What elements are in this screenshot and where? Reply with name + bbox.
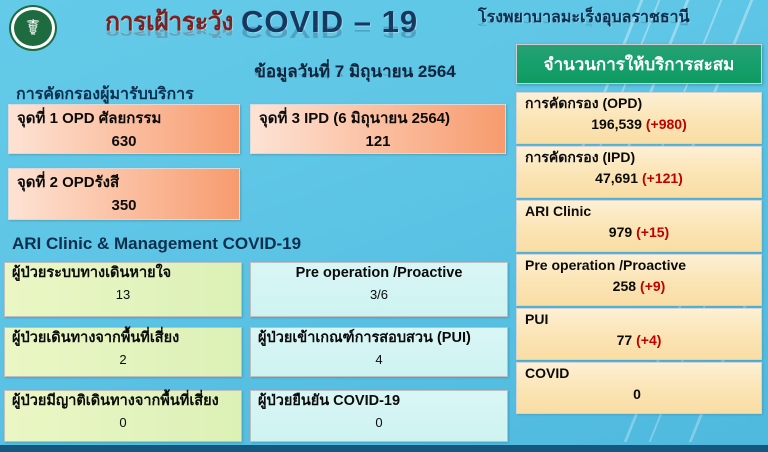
- ari-cell-relative-travel-risk-area-value: 0: [12, 415, 234, 430]
- cumulative-row-opd-value-group: 196,539(+980): [525, 116, 753, 132]
- ari-cell-pre-operation-proactive-label: Pre operation /Proactive: [258, 266, 500, 282]
- data-date-label: ข้อมูลวันที่ 7 มิถุนายน 2564: [205, 58, 505, 85]
- cumulative-row-covid: COVID 0: [516, 362, 762, 414]
- screening-point-3-card: จุดที่ 3 IPD (6 มิถุนายน 2564) 121: [250, 104, 506, 154]
- ari-cell-respiratory-patients-label: ผู้ป่วยระบบทางเดินหายใจ: [12, 266, 234, 282]
- screening-point-1-label: จุดที่ 1 OPD ศัลยกรรม: [17, 110, 231, 127]
- cumulative-panel-title-text: จำนวนการให้บริการสะสม: [544, 51, 735, 78]
- cumulative-row-pre-operation-proactive-value-group: 258(+9): [525, 278, 753, 294]
- slide-canvas: ☤ การเฝ้าระวัง COVID – 19 การเฝ้าระวัง C…: [0, 0, 768, 452]
- ministry-of-public-health-seal-icon: ☤: [6, 2, 62, 54]
- cumulative-row-pui: PUI 77(+4): [516, 308, 762, 360]
- screening-point-2-card: จุดที่ 2 OPDรังสี 350: [8, 168, 240, 220]
- ari-cell-relative-travel-risk-area: ผู้ป่วยมีญาติเดินทางจากพื้นที่เสี่ยง 0: [4, 390, 242, 442]
- ari-cell-pui-label: ผู้ป่วยเข้าเกณฑ์การสอบสวน (PUI): [258, 331, 500, 347]
- cumulative-row-pre-operation-proactive-value: 258: [613, 278, 636, 294]
- screening-point-3-value: 121: [259, 133, 497, 150]
- cumulative-panel-title: จำนวนการให้บริการสะสม: [516, 44, 762, 84]
- cumulative-row-ari-clinic-delta: (+15): [636, 224, 669, 240]
- bottom-accent-bar: [0, 445, 768, 452]
- ari-cell-travel-risk-area-label: ผู้ป่วยเดินทางจากพื้นที่เสี่ยง: [12, 331, 234, 347]
- cumulative-row-ipd-value-group: 47,691(+121): [525, 170, 753, 186]
- cumulative-row-pui-delta: (+4): [636, 332, 661, 348]
- cumulative-row-ipd-delta: (+121): [642, 170, 683, 186]
- cumulative-row-opd: การคัดกรอง (OPD) 196,539(+980): [516, 92, 762, 144]
- cumulative-row-ipd-value: 47,691: [595, 170, 638, 186]
- ari-cell-pre-operation-proactive: Pre operation /Proactive 3/6: [250, 262, 508, 317]
- cumulative-row-pui-label: PUI: [525, 312, 753, 327]
- cumulative-row-pui-value-group: 77(+4): [525, 332, 753, 348]
- caduceus-icon: ☤: [14, 10, 52, 46]
- ari-cell-confirmed-covid: ผู้ป่วยยืนยัน COVID-19 0: [250, 390, 508, 442]
- ari-cell-pre-operation-proactive-value: 3/6: [258, 287, 500, 302]
- cumulative-row-pui-value: 77: [617, 332, 633, 348]
- cumulative-row-ari-clinic-value: 979: [609, 224, 632, 240]
- cumulative-row-ari-clinic: ARI Clinic 979(+15): [516, 200, 762, 252]
- ari-cell-confirmed-covid-value: 0: [258, 415, 500, 430]
- ari-cell-pui: ผู้ป่วยเข้าเกณฑ์การสอบสวน (PUI) 4: [250, 327, 508, 377]
- cumulative-row-ipd: การคัดกรอง (IPD) 47,691(+121): [516, 146, 762, 198]
- cumulative-row-ari-clinic-label: ARI Clinic: [525, 204, 753, 219]
- cumulative-row-ari-clinic-value-group: 979(+15): [525, 224, 753, 240]
- screening-point-3-label: จุดที่ 3 IPD (6 มิถุนายน 2564): [259, 110, 497, 127]
- screening-point-1-value: 630: [17, 133, 231, 150]
- page-title-english: COVID – 19: [241, 4, 418, 40]
- ari-cell-respiratory-patients: ผู้ป่วยระบบทางเดินหายใจ 13: [4, 262, 242, 317]
- cumulative-row-opd-label: การคัดกรอง (OPD): [525, 96, 753, 111]
- cumulative-row-pre-operation-proactive: Pre operation /Proactive 258(+9): [516, 254, 762, 306]
- ari-cell-confirmed-covid-label: ผู้ป่วยยืนยัน COVID-19: [258, 394, 500, 410]
- cumulative-row-covid-label: COVID: [525, 366, 753, 381]
- ari-cell-pui-value: 4: [258, 352, 500, 367]
- page-title: การเฝ้าระวัง COVID – 19: [105, 2, 418, 42]
- ari-cell-travel-risk-area: ผู้ป่วยเดินทางจากพื้นที่เสี่ยง 2: [4, 327, 242, 377]
- cumulative-row-opd-delta: (+980): [646, 116, 687, 132]
- screening-point-2-label: จุดที่ 2 OPDรังสี: [17, 174, 231, 191]
- cumulative-row-pre-operation-proactive-label: Pre operation /Proactive: [525, 258, 753, 273]
- cumulative-row-ipd-label: การคัดกรอง (IPD): [525, 150, 753, 165]
- cumulative-row-covid-value: 0: [633, 386, 641, 402]
- ari-cell-respiratory-patients-value: 13: [12, 287, 234, 302]
- page-title-thai: การเฝ้าระวัง: [105, 2, 233, 42]
- screening-point-1-card: จุดที่ 1 OPD ศัลยกรรม 630: [8, 104, 240, 154]
- ari-cell-travel-risk-area-value: 2: [12, 352, 234, 367]
- cumulative-row-opd-value: 196,539: [591, 116, 642, 132]
- hospital-name: โรงพยาบาลมะเร็งอุบลราชธานี: [478, 5, 690, 30]
- cumulative-row-pre-operation-proactive-delta: (+9): [640, 278, 665, 294]
- screening-point-2-value: 350: [17, 197, 231, 214]
- cumulative-row-covid-value-group: 0: [525, 386, 753, 402]
- ari-cell-relative-travel-risk-area-label: ผู้ป่วยมีญาติเดินทางจากพื้นที่เสี่ยง: [12, 394, 234, 410]
- ari-section-title: ARI Clinic & Management COVID-19: [12, 234, 301, 254]
